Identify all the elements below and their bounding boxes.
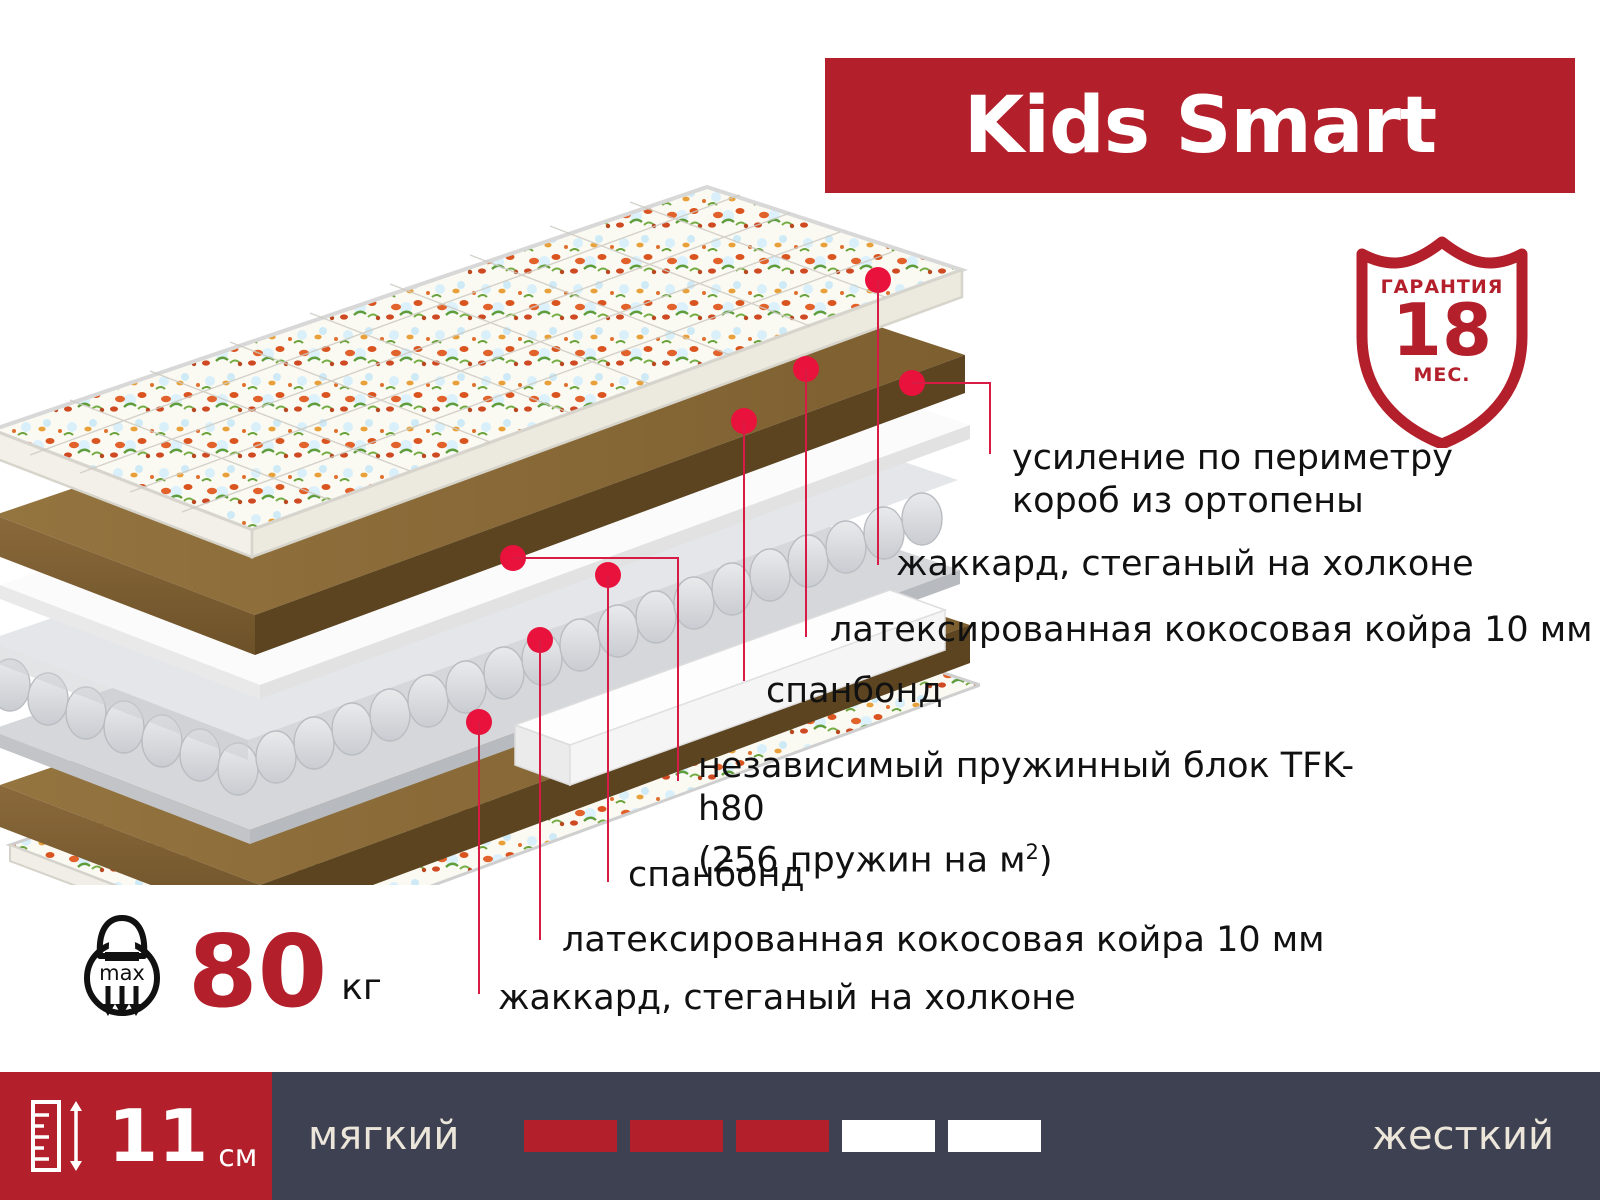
leader-coir-top: [805, 369, 807, 637]
height-unit: см: [218, 1139, 257, 1174]
leader-spring-a: [513, 557, 678, 559]
label-coir-bottom: латексированная кокосовая койра 10 мм: [562, 920, 1325, 961]
svg-text:max: max: [99, 961, 145, 985]
leader-jacquard-top: [877, 280, 879, 565]
leader-spunbond-bottom: [607, 575, 609, 882]
label-jacquard-bottom: жаккард, стеганый на холконе: [498, 978, 1076, 1019]
firmness-segment-3: [736, 1120, 829, 1152]
firmness-scale: [524, 1120, 1041, 1152]
label-spring-line2-post: ): [1039, 841, 1053, 881]
leader-orthofoam: [912, 382, 990, 384]
label-spunbond-bottom: спанбонд: [628, 855, 805, 896]
max-weight-indicator: max 80 кг: [78, 908, 382, 1020]
max-weight-unit: кг: [341, 967, 382, 1008]
label-spring-line1: независимый пружинный блок TFK-h80: [698, 745, 1398, 831]
firmness-segment-5: [948, 1120, 1041, 1152]
firmness-segment-1: [524, 1120, 617, 1152]
page-title: Kids Smart: [964, 81, 1436, 171]
leader-coir-bottom: [539, 640, 541, 940]
bottom-spec-bar: 11 см мягкий жесткий: [0, 1072, 1600, 1200]
warranty-months-number: 18: [1352, 294, 1532, 366]
firmness-soft-label: мягкий: [308, 1113, 459, 1159]
label-jacquard-top: жаккард, стеганый на холконе: [896, 544, 1474, 585]
firmness-spec-block: мягкий жесткий: [272, 1072, 1600, 1200]
firmness-segment-2: [630, 1120, 723, 1152]
leader-spring-b: [677, 557, 679, 781]
label-perimeter-line2: короб из ортопены: [1012, 480, 1532, 523]
leader-orthofoam-stub: [989, 382, 991, 454]
firmness-hard-label: жесткий: [1372, 1113, 1554, 1159]
warranty-caption-bottom: МЕС.: [1352, 364, 1532, 386]
height-value: 11: [108, 1101, 208, 1171]
label-coir-top: латексированная кокосовая койра 10 мм: [830, 610, 1593, 651]
label-perimeter-line1: усиление по периметру: [1012, 437, 1532, 480]
firmness-segment-4: [842, 1120, 935, 1152]
warranty-badge: ГАРАНТИЯ 18 МЕС.: [1352, 236, 1532, 448]
height-spec-block: 11 см: [0, 1072, 272, 1200]
leader-spunbond-top: [743, 421, 745, 681]
label-perimeter: усиление по периметру короб из ортопены: [1012, 437, 1532, 523]
brand-title-banner: Kids Smart: [825, 58, 1575, 193]
max-weight-value: 80: [188, 924, 327, 1020]
leader-jacquard-bottom: [478, 722, 480, 994]
label-spring-line2-sup: 2: [1026, 840, 1039, 864]
label-spunbond-top: спанбонд: [766, 671, 943, 712]
kettlebell-max-icon: max: [78, 908, 166, 1020]
ruler-icon: [30, 1099, 90, 1173]
